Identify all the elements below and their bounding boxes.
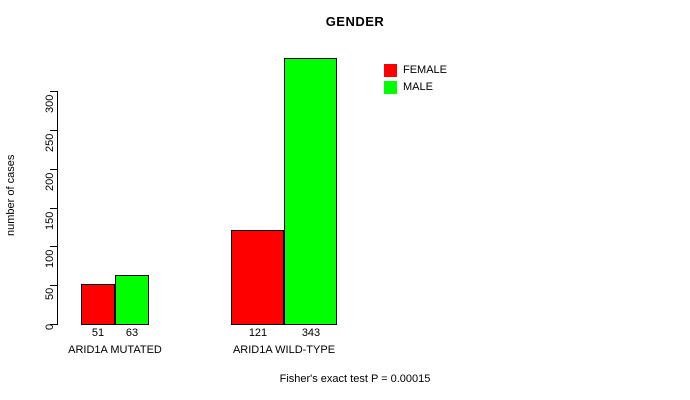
y-tick-200 (50, 169, 57, 170)
bar-value-label-wildtype-female: 121 (243, 328, 273, 339)
y-tick-100 (50, 246, 57, 247)
y-tick-label-50: 50 (45, 288, 56, 300)
legend-item-female: FEMALE (384, 62, 447, 79)
y-tick-label-300: 300 (45, 95, 56, 113)
legend-item-male: MALE (384, 79, 447, 96)
y-axis-title: number of cases (6, 155, 17, 236)
legend-label-female: FEMALE (403, 65, 447, 76)
y-tick-label-150: 150 (45, 212, 56, 230)
bar-wildtype-female (231, 230, 284, 325)
y-tick-label-100: 100 (45, 250, 56, 268)
bar-chart: GENDER 0 50 100 150 200 250 300 number o… (0, 0, 690, 400)
bar-value-label-mutated-male: 63 (117, 328, 147, 339)
y-tick-50 (50, 285, 57, 286)
y-tick-label-200: 200 (45, 173, 56, 191)
legend-swatch-female-icon (384, 64, 397, 77)
y-tick-label-250: 250 (45, 134, 56, 152)
statistical-test-annotation: Fisher's exact test P = 0.00015 (195, 373, 515, 386)
y-tick-150 (50, 208, 57, 209)
chart-title: GENDER (255, 14, 455, 30)
bar-wildtype-male (284, 58, 337, 325)
bar-value-label-mutated-female: 51 (83, 328, 113, 339)
group-label-arid1a-mutated: ARID1A MUTATED (45, 344, 185, 356)
y-tick-300 (50, 91, 57, 92)
bar-value-label-wildtype-male: 343 (296, 328, 326, 339)
y-tick-label-0: 0 (45, 324, 56, 330)
y-tick-250 (50, 130, 57, 131)
legend-label-male: MALE (403, 82, 433, 93)
bar-mutated-female (81, 284, 115, 325)
y-axis-line (57, 91, 58, 325)
group-label-arid1a-wild-type: ARID1A WILD-TYPE (214, 344, 354, 356)
bar-mutated-male (115, 275, 149, 325)
legend: FEMALE MALE (384, 62, 447, 96)
legend-swatch-male-icon (384, 81, 397, 94)
